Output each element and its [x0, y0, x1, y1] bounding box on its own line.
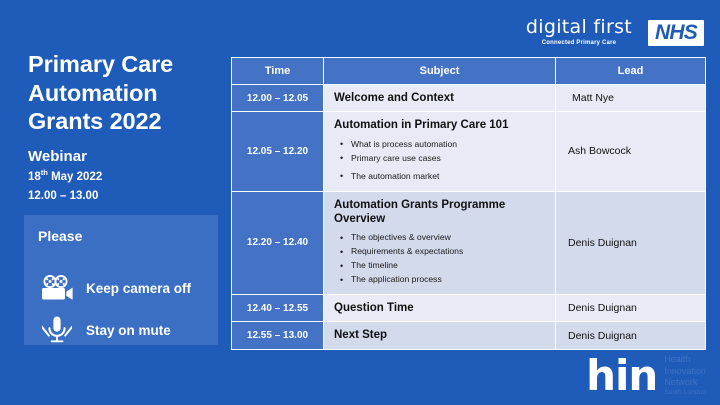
digital-first-logo: digital first Connected Primary Care: [526, 18, 632, 48]
table-row: 12.05 – 12.20 Automation in Primary Care…: [232, 112, 706, 191]
please-item-mute-label: Stay on mute: [86, 323, 171, 338]
column-header-lead: Lead: [556, 58, 706, 85]
hin-logo-line-2: Innovation: [664, 366, 706, 378]
lead-name: Denis Duignan: [568, 330, 637, 342]
lead-name: Denis Duignan: [568, 237, 637, 249]
cell-time: 12.55 – 13.00: [232, 322, 324, 349]
microphone-mute-icon: [36, 312, 78, 348]
page-title: Primary Care Automation Grants 2022: [28, 50, 228, 136]
cell-subject: Automation Grants Programme Overview The…: [324, 191, 556, 294]
please-heading: Please: [38, 228, 82, 244]
hin-logo-line-1: Health: [664, 354, 706, 366]
event-type-label: Webinar: [28, 148, 228, 166]
nhs-logo-text: NHS: [655, 22, 697, 43]
subject-title: Automation in Primary Care 101: [334, 118, 547, 132]
header-logo-bar: digital first Connected Primary Care NHS: [526, 18, 704, 48]
movie-camera-icon: [36, 270, 78, 306]
digital-first-word-part1: di: [526, 16, 544, 38]
digital-first-stylized-g: g: [544, 18, 556, 37]
hin-logo-line-4: South London: [664, 389, 706, 397]
list-item: The application process: [351, 273, 547, 287]
subject-bullet-list: The objectives & overview Requirements &…: [334, 231, 547, 287]
cell-subject: Welcome and Context: [324, 85, 556, 112]
cell-subject: Question Time: [324, 294, 556, 321]
lead-name: Matt Nye: [568, 92, 614, 104]
please-instructions-box: Please: [24, 215, 218, 345]
cell-time: 12.20 – 12.40: [232, 191, 324, 294]
page-title-line-2: Automation: [28, 79, 228, 108]
list-item: The automation market: [351, 170, 547, 184]
lead-name: Ash Bowcock: [568, 145, 631, 157]
list-item: Requirements & expectations: [351, 245, 547, 259]
hin-wordmark: hin: [586, 358, 657, 394]
list-item: The timeline: [351, 259, 547, 273]
subject-title: Next Step: [334, 328, 547, 342]
event-date-month-year: May 2022: [48, 171, 102, 183]
hin-logo-line-3: Network: [664, 377, 706, 389]
cell-subject: Automation in Primary Care 101 What is p…: [324, 112, 556, 191]
table-row: 12.55 – 13.00 Next Step Denis Duignan: [232, 322, 706, 349]
list-item: The objectives & overview: [351, 231, 547, 245]
cell-time: 12.05 – 12.20: [232, 112, 324, 191]
title-block: Primary Care Automation Grants 2022 Webi…: [28, 50, 228, 204]
event-date-label: 18th May 2022: [28, 170, 228, 184]
table-header-row: Time Subject Lead: [232, 58, 706, 85]
event-time-label: 12.00 – 13.00: [28, 189, 228, 203]
please-item-camera: Keep camera off: [36, 270, 191, 306]
cell-subject: Next Step: [324, 322, 556, 349]
cell-time: 12.00 – 12.05: [232, 85, 324, 112]
table-row: 12.20 – 12.40 Automation Grants Programm…: [232, 191, 706, 294]
subject-title: Question Time: [334, 301, 547, 315]
digital-first-tagline: Connected Primary Care: [526, 40, 632, 46]
list-item: What is process automation: [351, 138, 547, 152]
subject-title: Welcome and Context: [334, 91, 547, 105]
table-row: 12.00 – 12.05 Welcome and Context Matt N…: [232, 85, 706, 112]
cell-time: 12.40 – 12.55: [232, 294, 324, 321]
please-item-camera-label: Keep camera off: [86, 281, 191, 296]
page-title-line-1: Primary Care: [28, 50, 228, 79]
nhs-logo: NHS: [648, 20, 704, 46]
digital-first-word-part2: ital first: [556, 16, 632, 38]
cell-lead: Denis Duignan: [556, 294, 706, 321]
list-item: Primary care use cases: [351, 152, 547, 166]
hin-logo: hin Health Innovation Network South Lond…: [586, 354, 706, 397]
column-header-time: Time: [232, 58, 324, 85]
digital-first-wordmark: digital first: [526, 18, 632, 37]
column-header-subject: Subject: [324, 58, 556, 85]
cell-lead: Denis Duignan: [556, 322, 706, 349]
hin-logo-text: Health Innovation Network South London: [664, 354, 706, 397]
page-title-line-3: Grants 2022: [28, 107, 228, 136]
cell-lead: Ash Bowcock: [556, 112, 706, 191]
presentation-slide: Primary Care Automation Grants 2022 Webi…: [0, 0, 720, 405]
table-row: 12.40 – 12.55 Question Time Denis Duigna…: [232, 294, 706, 321]
lead-name: Denis Duignan: [568, 302, 637, 314]
event-date-ordinal: th: [41, 168, 48, 177]
agenda-table-container: Time Subject Lead 12.00 – 12.05 Welcome …: [231, 57, 705, 350]
subject-title: Automation Grants Programme Overview: [334, 198, 547, 227]
event-date-day: 18: [28, 171, 41, 183]
agenda-table: Time Subject Lead 12.00 – 12.05 Welcome …: [231, 57, 706, 350]
cell-lead: Denis Duignan: [556, 191, 706, 294]
please-item-mute: Stay on mute: [36, 312, 171, 348]
subject-bullet-list: What is process automation Primary care …: [334, 138, 547, 184]
cell-lead: Matt Nye: [556, 85, 706, 112]
